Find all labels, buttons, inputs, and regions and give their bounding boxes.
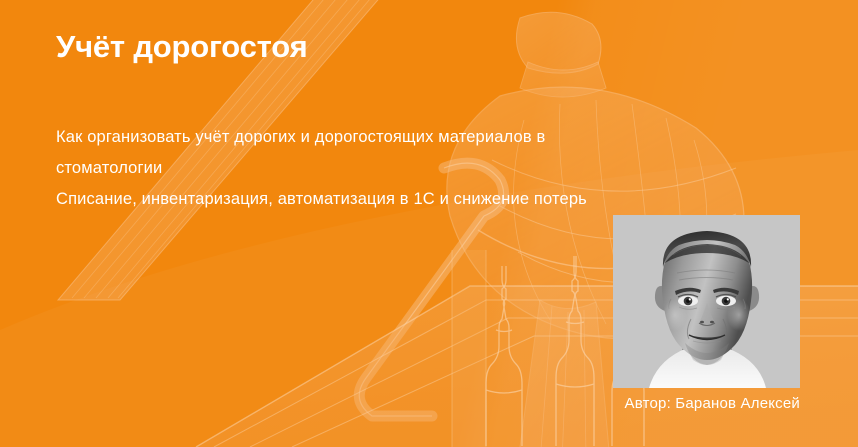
body-line-1: Как организовать учёт дорогих и дорогост… <box>56 122 596 184</box>
author-caption: Автор: Баранов Алексей <box>560 395 800 412</box>
author-portrait-photo <box>613 215 800 388</box>
body-line-2: Списание, инвентаризация, автоматизация … <box>56 184 596 215</box>
page-title: Учёт дорогостоя <box>56 28 307 65</box>
slide-body-text: Как организовать учёт дорогих и дорогост… <box>56 122 596 215</box>
presentation-slide: Учёт дорогостоя Как организовать учёт до… <box>0 0 858 447</box>
